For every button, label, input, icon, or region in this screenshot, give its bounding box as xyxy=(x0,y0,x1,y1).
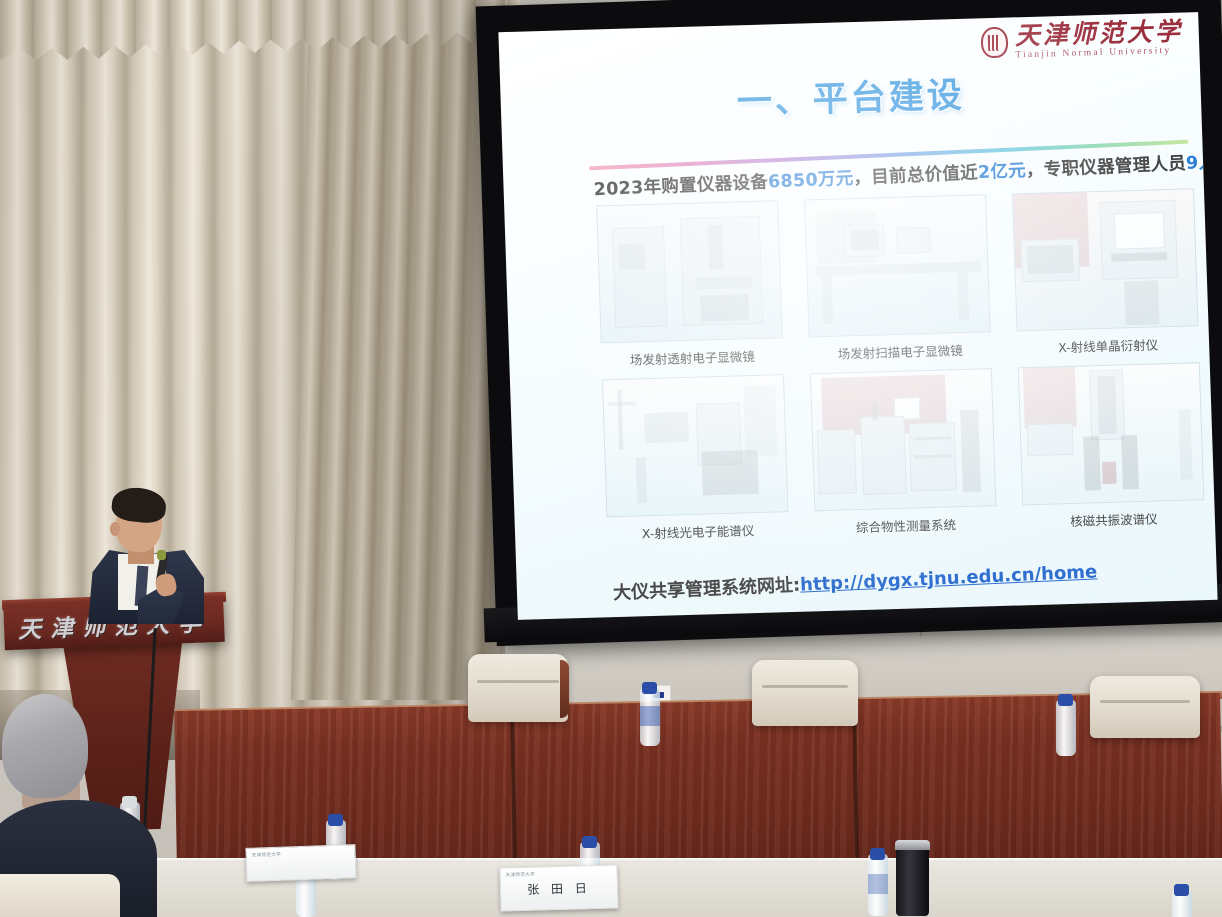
instrument-caption-3: X-射线单晶衍射仪 xyxy=(1017,333,1200,357)
water-bottle-7-label xyxy=(868,874,888,894)
namecard-left-logo: 天津师范大学 xyxy=(252,852,282,859)
instrument-caption-1: 场发射透射电子显微镜 xyxy=(601,345,784,369)
instrument-photo-3 xyxy=(1012,188,1199,331)
instrument-photo-4 xyxy=(602,374,789,517)
headline-part2: ，目前总价值近 xyxy=(853,163,978,189)
water-bottle-8-cap xyxy=(1174,884,1189,896)
photo-row-1: 场发射透射电子显微镜 场发射扫描电子显微镜 xyxy=(596,188,1202,379)
headline-part1: 2023年购置仪器设备 xyxy=(593,173,768,201)
water-bottle-2[interactable] xyxy=(1056,700,1076,756)
instrument-caption-6: 核磁共振波谱仪 xyxy=(1023,507,1206,531)
photo-cell-tem: 场发射透射电子显微镜 xyxy=(596,200,784,379)
black-thermos[interactable] xyxy=(896,842,929,916)
chair-1-trim xyxy=(560,660,569,718)
conference-room-photo: ⚭ 天津师范大学 Tianjin Normal University 一、平台建… xyxy=(0,0,1222,917)
chair-2[interactable] xyxy=(752,660,858,726)
photo-cell-sem: 场发射扫描电子显微镜 xyxy=(804,194,992,373)
instrument-photo-2 xyxy=(804,194,991,337)
attendee-head xyxy=(2,694,88,798)
water-bottle-1-cap xyxy=(642,682,657,694)
headline-number-2: 2亿元 xyxy=(977,161,1026,183)
university-name-cn: 天津师范大学 xyxy=(1014,19,1183,49)
water-bottle-7-cap xyxy=(870,848,885,860)
headline-number-1: 6850万元 xyxy=(768,169,854,193)
water-bottle-1-label xyxy=(640,706,660,726)
headline-part3: ，专职仪器管理人员 xyxy=(1026,154,1187,181)
instrument-photo-5 xyxy=(810,368,997,511)
university-seal-icon xyxy=(980,27,1008,59)
speaker-presenter xyxy=(86,488,211,618)
instrument-photo-grid: 场发射透射电子显微镜 场发射扫描电子显微镜 xyxy=(596,188,1207,553)
instrument-photo-1 xyxy=(596,200,783,343)
chair-3[interactable] xyxy=(1090,676,1200,738)
attendee-chair[interactable] xyxy=(0,874,120,917)
water-bottle-6-cap xyxy=(582,836,597,848)
photo-cell-ppms: 综合物性测量系统 xyxy=(810,368,998,547)
microphone-head-icon xyxy=(157,550,166,560)
projected-slide: 天津师范大学 Tianjin Normal University 一、平台建设 … xyxy=(498,12,1217,620)
water-bottle-3-cap xyxy=(122,796,137,808)
photo-cell-xps: X-射线光电子能谱仪 xyxy=(602,374,790,553)
url-label: 大仪共享管理系统网址: xyxy=(613,575,801,604)
water-bottle-2-cap xyxy=(1058,694,1073,706)
instrument-caption-5: 综合物性测量系统 xyxy=(815,513,998,537)
instrument-photo-6 xyxy=(1018,362,1205,505)
namecard-left: 天津师范大学 xyxy=(245,844,356,882)
university-logo: 天津师范大学 Tianjin Normal University xyxy=(980,19,1183,62)
url-link[interactable]: http://dygx.tjnu.edu.cn/home xyxy=(800,561,1098,595)
instrument-caption-4: X-射线光电子能谱仪 xyxy=(607,519,790,543)
slide-url-line: 大仪共享管理系统网址:http://dygx.tjnu.edu.cn/home xyxy=(612,557,1097,605)
instrument-caption-2: 场发射扫描电子显微镜 xyxy=(809,339,992,363)
photo-cell-xrd: X-射线单晶衍射仪 xyxy=(1012,188,1200,367)
namecard-right: 天津师范大学 张 田 日 xyxy=(499,864,618,911)
thermos-lid xyxy=(895,840,930,850)
namecard-left-name xyxy=(247,858,355,862)
photo-cell-nmr: 核磁共振波谱仪 xyxy=(1018,362,1206,541)
university-name-en: Tianjin Normal University xyxy=(1015,47,1183,61)
water-bottle-4-cap xyxy=(328,814,343,826)
photo-row-2: X-射线光电子能谱仪 综合物性测量系统 xyxy=(602,362,1208,553)
slide-title: 一、平台建设 xyxy=(500,60,1201,131)
namecard-right-logo: 天津师范大学 xyxy=(506,872,536,879)
namecard-right-name: 张 田 日 xyxy=(501,878,617,898)
speaker-ear xyxy=(110,522,120,536)
chair-1[interactable] xyxy=(468,654,568,722)
